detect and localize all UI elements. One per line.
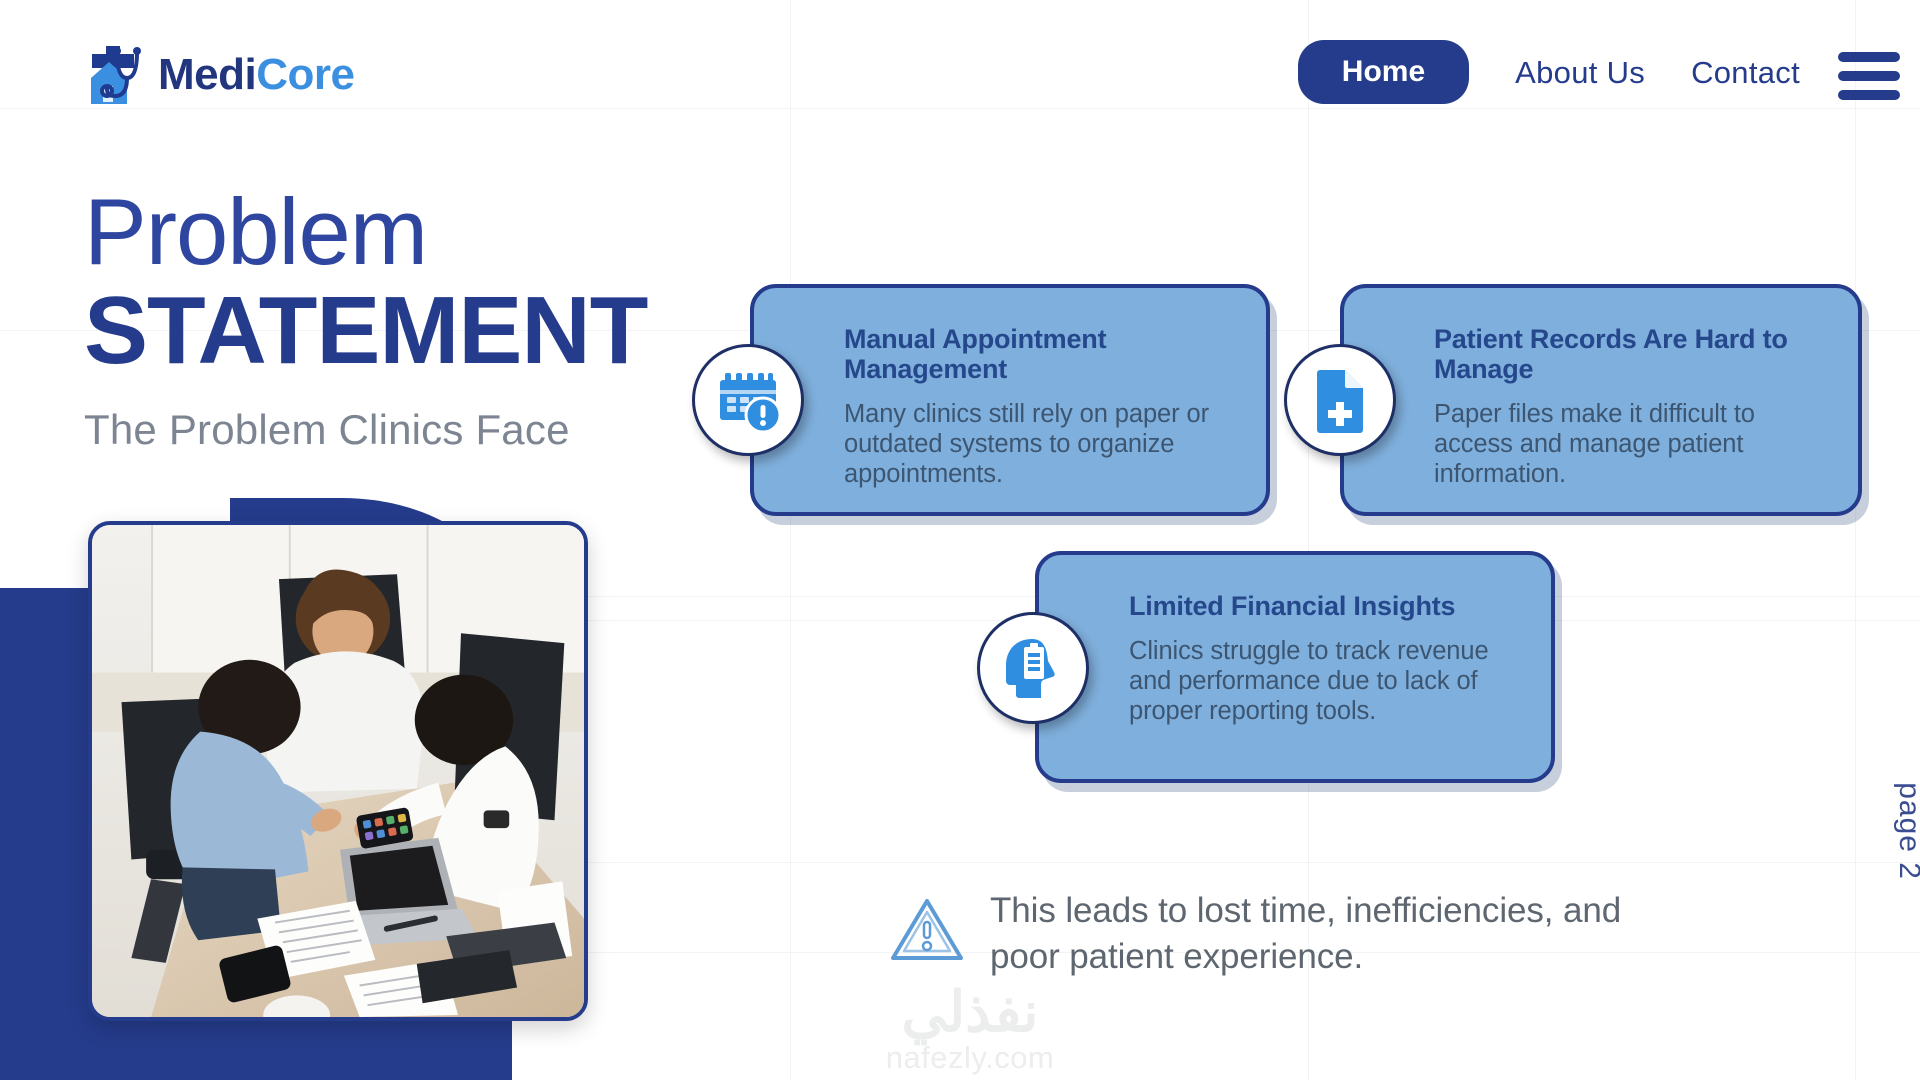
site-header: MediCore Home About Us Contact — [0, 0, 1920, 140]
problem-card-3-description: Clinics struggle to track revenue and pe… — [1129, 637, 1517, 726]
problem-card-1[interactable]: Manual Appointment Management Many clini… — [750, 284, 1270, 516]
brand-name-part2: Core — [256, 50, 354, 99]
watermark-latin: nafezly.com — [860, 1040, 1080, 1076]
problem-card-1-title: Manual Appointment Management — [844, 324, 1232, 384]
problem-card-2-title: Patient Records Are Hard to Manage — [1434, 324, 1824, 384]
page-title-bold: STATEMENT — [84, 281, 647, 382]
calendar-alert-icon — [692, 344, 804, 456]
hamburger-menu-icon[interactable] — [1838, 52, 1900, 100]
head-report-insight-icon — [977, 612, 1089, 724]
summary-note-text: This leads to lost time, inefficiencies,… — [990, 888, 1650, 979]
page-number: page 2 — [1892, 782, 1920, 880]
nav-item-about-us[interactable]: About Us — [1515, 57, 1645, 88]
hero-title-block: Problem STATEMENT The Problem Clinics Fa… — [84, 185, 647, 454]
medical-cross-house-stethoscope-icon — [84, 42, 146, 108]
problem-card-3[interactable]: Limited Financial Insights Clinics strug… — [1035, 551, 1555, 783]
watermark-arabic: نفذلي — [860, 985, 1080, 1038]
brand-name: MediCore — [158, 53, 354, 97]
nav-item-home[interactable]: Home — [1298, 40, 1469, 104]
summary-note: This leads to lost time, inefficiencies,… — [888, 888, 1650, 979]
brand-logo[interactable]: MediCore — [84, 42, 354, 108]
medical-file-plus-icon — [1284, 344, 1396, 456]
nav-item-contact[interactable]: Contact — [1691, 57, 1800, 88]
watermark: نفذلي nafezly.com — [860, 985, 1080, 1076]
main-navigation: Home About Us Contact — [1298, 40, 1800, 104]
problem-card-3-title: Limited Financial Insights — [1129, 591, 1517, 621]
problem-card-2-description: Paper files make it difficult to access … — [1434, 400, 1824, 489]
problem-card-1-description: Many clinics still rely on paper or outd… — [844, 400, 1232, 489]
team-photo — [88, 521, 588, 1021]
page-title-light: Problem — [84, 185, 647, 279]
page-subtitle: The Problem Clinics Face — [84, 406, 647, 454]
brand-name-part1: Medi — [158, 50, 256, 99]
warning-triangle-icon — [888, 894, 966, 966]
problem-card-2[interactable]: Patient Records Are Hard to Manage Paper… — [1340, 284, 1862, 516]
